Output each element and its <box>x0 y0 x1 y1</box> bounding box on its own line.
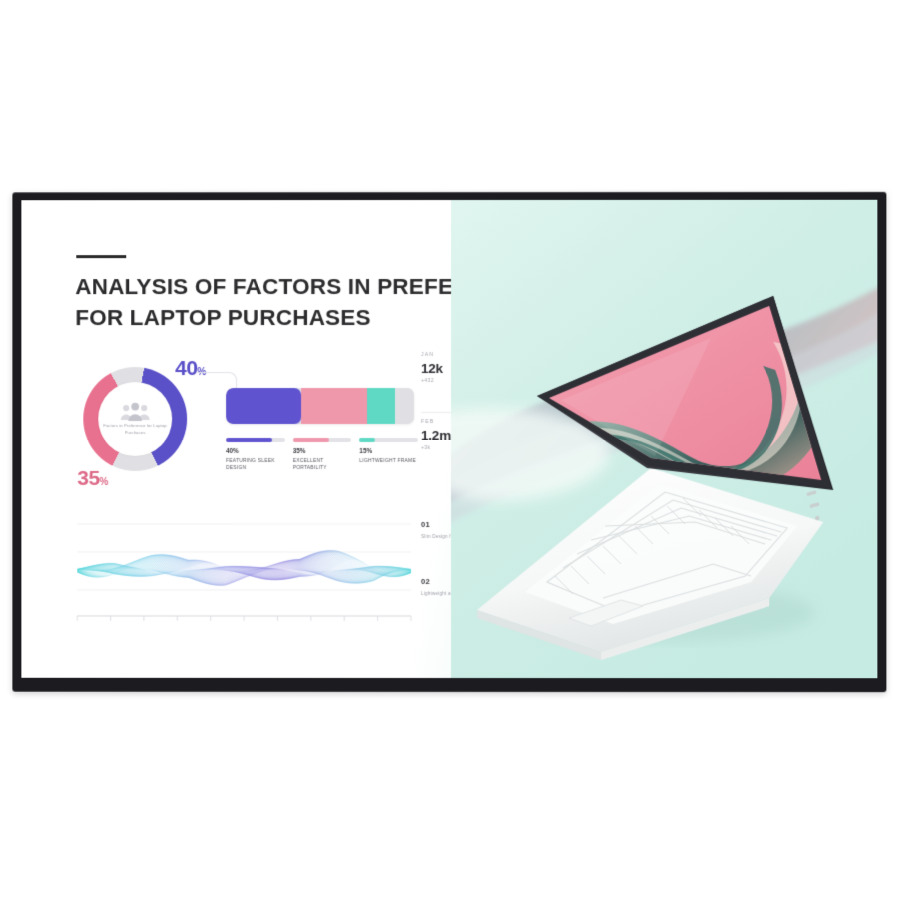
legend-fill <box>359 438 374 441</box>
chart-wave-lines <box>77 550 411 585</box>
wave-area-chart <box>69 512 419 632</box>
wave-chart-svg <box>69 512 419 632</box>
chart-x-axis <box>77 616 411 621</box>
donut-label-35-symbol: % <box>100 477 108 488</box>
stacked-bar-segment <box>301 388 367 424</box>
donut-label-35-value: 35 <box>77 467 99 490</box>
legend-percent: 35% <box>293 447 352 454</box>
laptop-product-photo <box>451 200 877 678</box>
donut-label-35: 35% <box>77 467 108 491</box>
presentation-slide: ANALYSIS OF FACTORS IN PREFERENCE FOR LA… <box>21 200 877 678</box>
legend-label: EXCELLENT PORTABILITY <box>293 457 352 473</box>
legend-item: 15%LIGHTWEIGHT FRAME <box>359 438 418 473</box>
legend: 40%FEATURING SLEEK DESIGN35%EXCELLENT PO… <box>226 438 418 473</box>
legend-fill <box>293 438 329 441</box>
people-group-icon <box>118 402 152 421</box>
title-accent-rule <box>76 255 126 258</box>
stacked-bar-segment <box>367 388 395 424</box>
legend-track <box>293 438 352 441</box>
screenshot-root: ANALYSIS OF FACTORS IN PREFERENCE FOR LA… <box>0 0 898 898</box>
legend-percent: 40% <box>226 447 285 454</box>
stacked-bar-segment <box>395 388 414 424</box>
donut-chart: Factors in Preference for Laptop Purchas… <box>69 355 199 495</box>
monitor-screen: ANALYSIS OF FACTORS IN PREFERENCE FOR LA… <box>21 200 877 678</box>
stacked-bar-segment <box>226 388 301 424</box>
donut-center-caption: Factors in Preference for Laptop Purchas… <box>103 423 167 435</box>
legend-track <box>359 438 418 441</box>
legend-track <box>226 438 285 441</box>
laptop-illustration <box>451 200 877 678</box>
stacked-bar-chart <box>226 388 414 424</box>
donut-center: Factors in Preference for Laptop Purchas… <box>100 384 170 454</box>
legend-percent: 15% <box>359 447 418 454</box>
legend-label: LIGHTWEIGHT FRAME <box>359 457 418 465</box>
display-monitor: ANALYSIS OF FACTORS IN PREFERENCE FOR LA… <box>12 192 886 692</box>
legend-item: 40%FEATURING SLEEK DESIGN <box>226 438 285 473</box>
legend-label: FEATURING SLEEK DESIGN <box>226 457 285 473</box>
legend-fill <box>226 438 272 441</box>
legend-item: 35%EXCELLENT PORTABILITY <box>293 438 352 473</box>
donut-label-40-value: 40 <box>175 357 197 380</box>
